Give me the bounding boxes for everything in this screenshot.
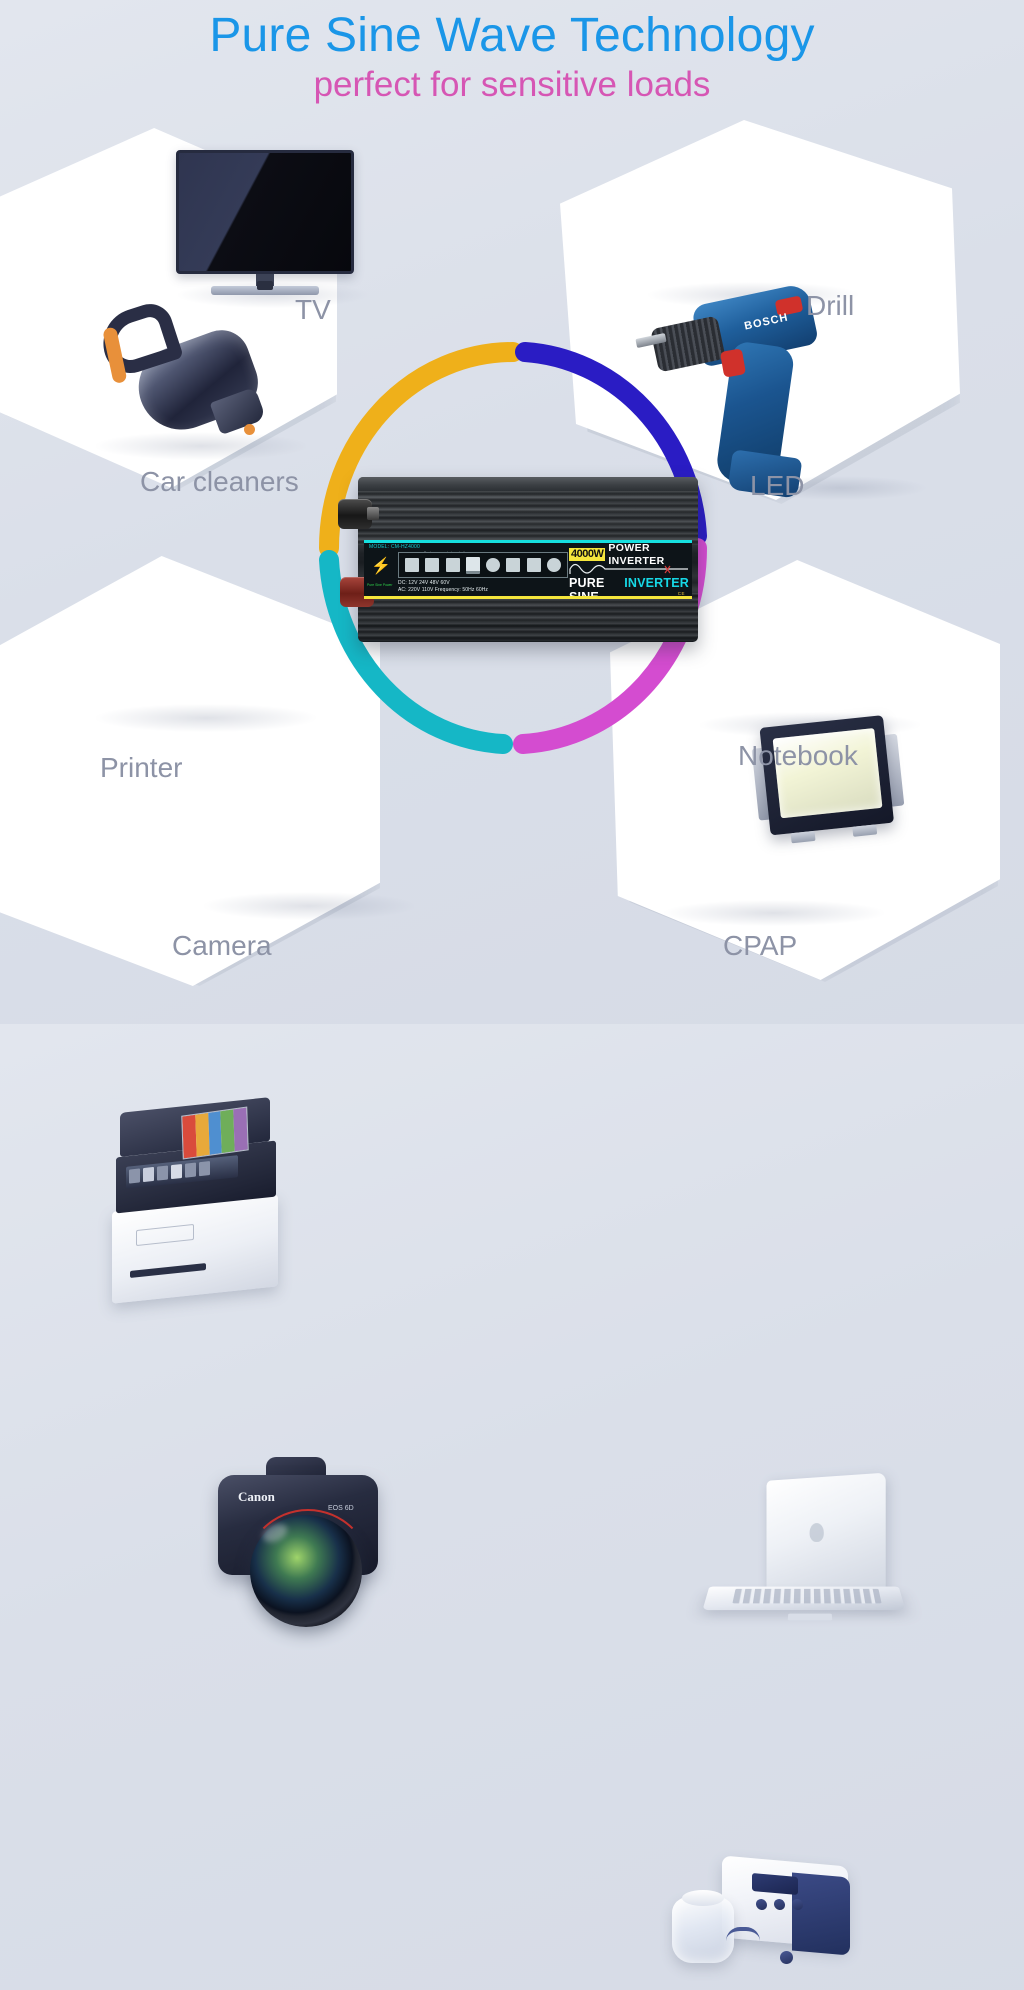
printer-shadow xyxy=(96,704,316,732)
inverter-heatsink-fins-bottom xyxy=(358,593,698,641)
cpap-button-3 xyxy=(792,1899,803,1911)
inverter-dc-spec: DC: 12V 24V 48V 60V xyxy=(398,580,450,586)
label-notebook: Notebook xyxy=(738,740,858,772)
laptop-keyboard xyxy=(732,1589,881,1604)
camera-lens-red-ring xyxy=(244,1509,372,1637)
inverter-top-edge xyxy=(358,477,698,491)
inverter-negative-terminal xyxy=(338,499,372,529)
inverter-model-text: MODEL: CM-HZ4000 xyxy=(369,544,420,550)
camera-shadow xyxy=(204,892,414,920)
inverter-pure-sine-row: PURE SINE INVERTER xyxy=(569,576,689,599)
vacuum-button xyxy=(244,424,255,435)
cpap-button-1 xyxy=(756,1899,767,1911)
cpap-port-knob xyxy=(780,1951,793,1964)
led-foot-left xyxy=(791,831,816,843)
inverter-brand-logo-icon: ⚡ xyxy=(369,553,393,581)
inverter-heatsink-fins-top xyxy=(358,491,698,545)
inverter-power-row: 4000W POWER INVERTER xyxy=(569,547,689,562)
appliance-mini-icon-fan xyxy=(547,558,561,572)
printer-icon xyxy=(104,1105,294,1305)
television-icon xyxy=(176,150,354,295)
appliance-mini-icon-tv xyxy=(466,557,480,574)
inverter-certification-text: CE xyxy=(678,591,685,596)
label-printer: Printer xyxy=(100,752,182,784)
inverter-wattage-badge: 4000W xyxy=(569,548,605,561)
label-tv: TV xyxy=(295,294,331,326)
tv-screen xyxy=(176,150,354,274)
led-foot-right xyxy=(852,824,877,836)
laptop-lid xyxy=(767,1473,886,1600)
vacuum-cleaner-icon xyxy=(96,302,271,452)
label-car-cleaners: Car cleaners xyxy=(140,466,299,498)
inverter-title-block: 4000W POWER INVERTER PURE SINE INVERTER … xyxy=(569,547,689,593)
led-floodlight-icon xyxy=(749,710,911,865)
infographic-canvas: Pure Sine Wave Technology perfect for se… xyxy=(0,0,1024,1024)
cpap-rear-panel xyxy=(792,1872,850,1955)
cpap-shadow xyxy=(664,900,884,926)
inverter-inverter-text: INVERTER xyxy=(624,576,689,590)
inverter-power-inverter-text: POWER INVERTER xyxy=(608,542,689,568)
camera-model-text: EOS 6D xyxy=(328,1505,354,1513)
appliance-mini-icon-monitor xyxy=(446,558,460,572)
dslr-camera-icon: Canon EOS 6D xyxy=(204,1457,404,1637)
cpap-tube xyxy=(726,1927,760,1947)
label-camera: Camera xyxy=(172,930,272,962)
heading-block: Pure Sine Wave Technology perfect for se… xyxy=(0,8,1024,106)
appliance-mini-icon-printer xyxy=(425,558,439,572)
cpap-humidifier-chamber xyxy=(672,1897,734,1963)
page-title: Pure Sine Wave Technology xyxy=(0,8,1024,64)
label-led: LED xyxy=(750,470,804,502)
inverter-brand-sub-text: Pure Sine Power xyxy=(367,583,392,587)
inverter-pure-sine-text: PURE SINE xyxy=(569,576,620,599)
appliance-mini-icon-mixer xyxy=(405,558,419,572)
cpap-machine-icon xyxy=(664,1855,874,1990)
drill-trigger xyxy=(720,348,746,377)
inverter-spec-label: MODEL: CM-HZ4000 ⚡ Pure Sine Power For h… xyxy=(364,540,692,599)
camera-brand-text: Canon xyxy=(238,1489,275,1505)
inverter-ac-spec: AC: 220V 110V Frequency: 50Hz 60Hz xyxy=(398,587,488,593)
laptop-trackpad xyxy=(788,1614,832,1621)
power-inverter-product: MODEL: CM-HZ4000 ⚡ Pure Sine Power For h… xyxy=(338,477,698,642)
printer-output-photo xyxy=(181,1106,248,1159)
appliance-mini-icon-lamp xyxy=(486,558,500,572)
laptop-icon xyxy=(700,1477,910,1647)
label-drill: Drill xyxy=(806,290,854,322)
appliance-mini-icon-laptop xyxy=(527,558,541,572)
cpap-button-2 xyxy=(774,1899,785,1911)
page-subtitle: perfect for sensitive loads xyxy=(0,64,1024,106)
inverter-application-icons xyxy=(398,552,568,578)
label-cpap: CPAP xyxy=(723,930,797,962)
appliance-mini-icon-camera xyxy=(506,558,520,572)
